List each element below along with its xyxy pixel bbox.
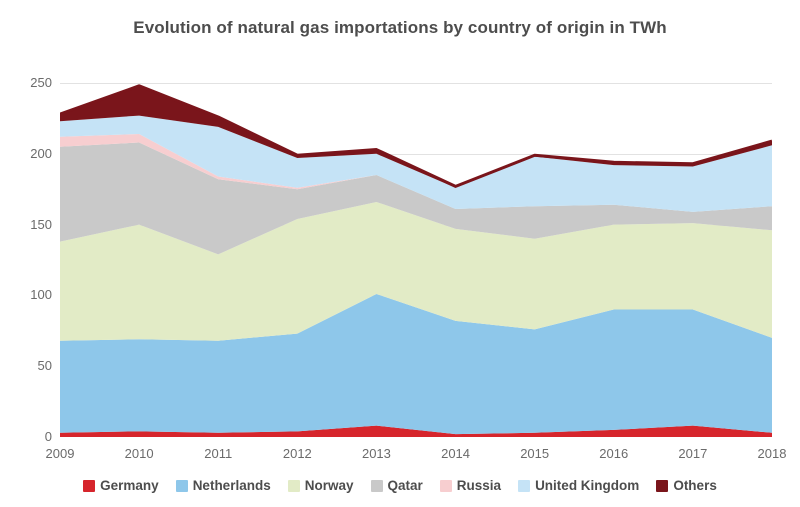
legend-item-others[interactable]: Others	[656, 478, 717, 493]
legend-swatch-icon	[440, 480, 452, 492]
legend-label: Others	[673, 478, 717, 493]
legend-label: Qatar	[388, 478, 423, 493]
x-axis-tick-label: 2015	[520, 446, 549, 461]
y-axis-tick-label: 200	[12, 146, 52, 161]
x-axis-tick-label: 2013	[362, 446, 391, 461]
legend-item-russia[interactable]: Russia	[440, 478, 501, 493]
legend-label: United Kingdom	[535, 478, 639, 493]
legend-swatch-icon	[371, 480, 383, 492]
chart-container: Evolution of natural gas importations by…	[0, 0, 800, 507]
legend-swatch-icon	[288, 480, 300, 492]
chart-title: Evolution of natural gas importations by…	[0, 18, 800, 38]
x-axis-tick-label: 2017	[678, 446, 707, 461]
x-axis-tick-label: 2010	[125, 446, 154, 461]
y-axis-tick-label: 0	[12, 429, 52, 444]
legend-item-qatar[interactable]: Qatar	[371, 478, 423, 493]
y-axis-tick-label: 150	[12, 217, 52, 232]
legend-label: Netherlands	[193, 478, 271, 493]
legend-swatch-icon	[518, 480, 530, 492]
legend-label: Norway	[305, 478, 354, 493]
y-axis-tick-label: 100	[12, 287, 52, 302]
chart-legend: GermanyNetherlandsNorwayQatarRussiaUnite…	[0, 478, 800, 493]
legend-swatch-icon	[83, 480, 95, 492]
legend-label: Germany	[100, 478, 159, 493]
x-axis-tick-label: 2012	[283, 446, 312, 461]
y-axis-tick-label: 50	[12, 358, 52, 373]
x-axis-tick-label: 2014	[441, 446, 470, 461]
x-axis-tick-label: 2011	[204, 446, 232, 461]
x-axis-tick-label: 2009	[46, 446, 75, 461]
legend-item-germany[interactable]: Germany	[83, 478, 159, 493]
legend-swatch-icon	[656, 480, 668, 492]
legend-label: Russia	[457, 478, 501, 493]
legend-item-netherlands[interactable]: Netherlands	[176, 478, 271, 493]
legend-item-norway[interactable]: Norway	[288, 478, 354, 493]
stacked-area-series	[60, 83, 772, 437]
x-axis-tick-label: 2018	[758, 446, 787, 461]
legend-swatch-icon	[176, 480, 188, 492]
x-axis-tick-label: 2016	[599, 446, 628, 461]
legend-item-united-kingdom[interactable]: United Kingdom	[518, 478, 639, 493]
plot-area	[60, 83, 772, 437]
y-axis-tick-label: 250	[12, 75, 52, 90]
